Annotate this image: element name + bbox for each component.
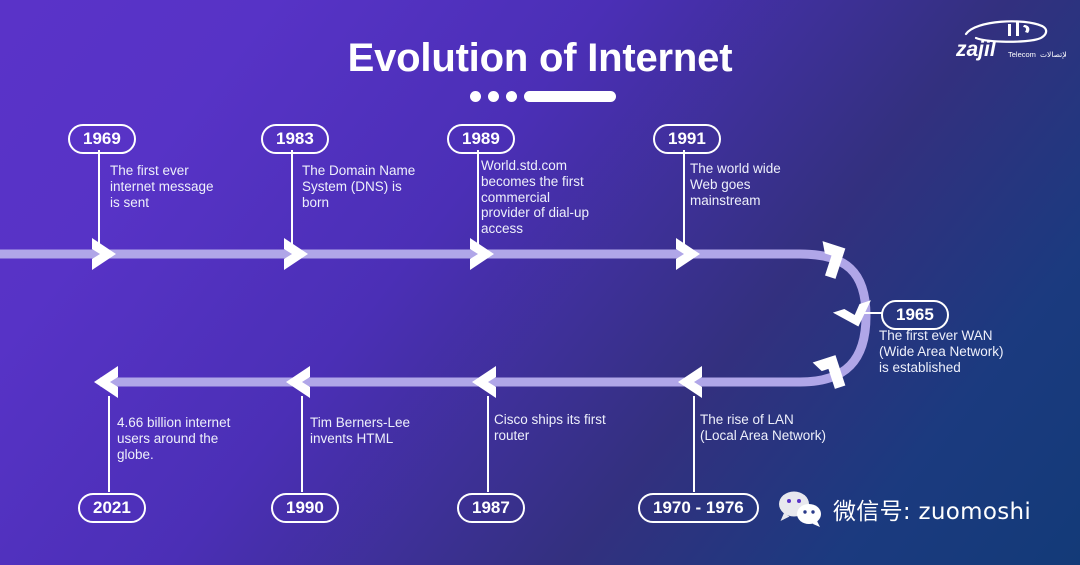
track-path — [0, 254, 866, 382]
wechat-watermark: 微信号: zuomoshi — [778, 490, 1031, 528]
year-badge-1983[interactable]: 1983 — [261, 124, 329, 154]
year-badge-1991[interactable]: 1991 — [653, 124, 721, 154]
stem-1970-1976 — [693, 396, 695, 492]
event-text-1991: The world wide Web goes mainstream — [690, 161, 840, 208]
event-text-2021: 4.66 billion internet users around the g… — [117, 415, 267, 462]
stem-1990 — [301, 396, 303, 492]
event-text-1983: The Domain Name System (DNS) is born — [302, 163, 452, 210]
stem-1983 — [291, 150, 293, 250]
event-text-1987: Cisco ships its first router — [494, 412, 664, 444]
year-badge-1987[interactable]: 1987 — [457, 493, 525, 523]
year-badge-1989[interactable]: 1989 — [447, 124, 515, 154]
year-badge-2021[interactable]: 2021 — [78, 493, 146, 523]
stem-2021 — [108, 396, 110, 492]
event-text-1970-1976: The rise of LAN (Local Area Network) — [700, 412, 890, 444]
event-text-1969: The first ever internet message is sent — [110, 163, 250, 210]
year-badge-1970-1976[interactable]: 1970 - 1976 — [638, 493, 759, 523]
event-text-1965: The first ever WAN (Wide Area Network) i… — [879, 328, 1054, 375]
year-badge-1965[interactable]: 1965 — [881, 300, 949, 330]
stem-1987 — [487, 396, 489, 492]
wechat-icon — [778, 490, 822, 528]
infographic-canvas: zajil Telecom للإتصالات Evolution of Int… — [0, 0, 1080, 565]
year-badge-1990[interactable]: 1990 — [271, 493, 339, 523]
stem-1991 — [683, 150, 685, 250]
timeline-track — [0, 0, 1080, 565]
event-text-1990: Tim Berners-Lee invents HTML — [310, 415, 470, 447]
connector-1965 — [861, 312, 883, 314]
chevron-down-icon — [833, 300, 878, 332]
wechat-label: 微信号: zuomoshi — [833, 492, 1031, 526]
event-text-1989: World.std.com becomes the first commerci… — [481, 158, 631, 237]
year-badge-1969[interactable]: 1969 — [68, 124, 136, 154]
stem-1989 — [477, 150, 479, 250]
stem-1969 — [98, 150, 100, 250]
